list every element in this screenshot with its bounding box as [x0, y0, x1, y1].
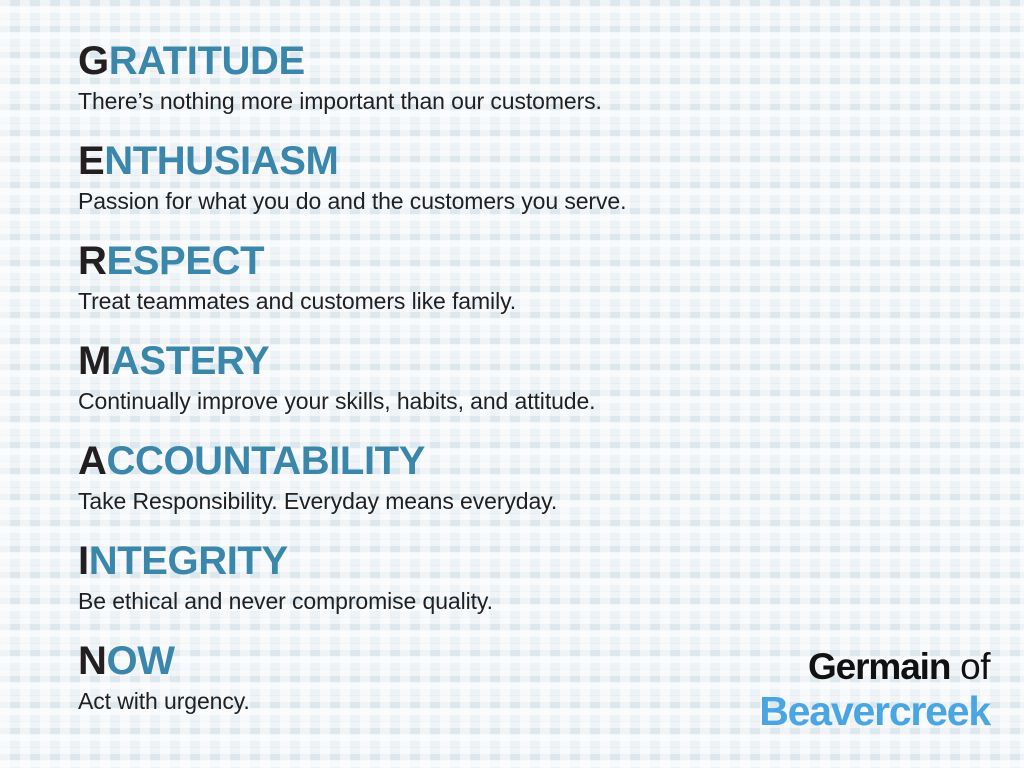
value-heading-gratitude: GRATITUDE [78, 38, 958, 84]
value-heading-integrity: INTEGRITY [78, 538, 958, 584]
value-heading-enthusiasm: ENTHUSIASM [78, 138, 958, 184]
value-description-gratitude: There’s nothing more important than our … [78, 86, 958, 116]
value-heading-rest: ASTERY [111, 339, 269, 383]
value-block-accountability: ACCOUNTABILITY Take Responsibility. Ever… [78, 438, 958, 538]
value-initial-letter: A [78, 439, 107, 483]
values-poster: GRATITUDE There’s nothing more important… [0, 0, 1024, 768]
value-block-integrity: INTEGRITY Be ethical and never compromis… [78, 538, 958, 638]
value-heading-respect: RESPECT [78, 238, 958, 284]
value-description-accountability: Take Responsibility. Everyday means ever… [78, 486, 958, 516]
value-heading-rest: NTHUSIASM [104, 139, 338, 183]
logo-line-primary: Germain of [759, 646, 990, 688]
value-heading-rest: OW [107, 639, 175, 683]
value-initial-letter: E [78, 139, 104, 183]
value-heading-rest: ESPECT [107, 239, 265, 283]
value-block-respect: RESPECT Treat teammates and customers li… [78, 238, 958, 338]
logo-brand-name: Germain [808, 646, 950, 687]
value-block-mastery: MASTERY Continually improve your skills,… [78, 338, 958, 438]
value-heading-rest: CCOUNTABILITY [107, 439, 425, 483]
value-initial-letter: M [78, 339, 111, 383]
value-initial-letter: I [78, 539, 89, 583]
value-initial-letter: G [78, 39, 109, 83]
value-description-mastery: Continually improve your skills, habits,… [78, 386, 958, 416]
value-heading-rest: NTEGRITY [89, 539, 288, 583]
value-description-respect: Treat teammates and customers like famil… [78, 286, 958, 316]
values-list: GRATITUDE There’s nothing more important… [78, 38, 958, 738]
value-heading-accountability: ACCOUNTABILITY [78, 438, 958, 484]
logo-connector-word: of [950, 646, 990, 687]
logo-location-name: Beavercreek [759, 688, 990, 734]
value-description-enthusiasm: Passion for what you do and the customer… [78, 186, 958, 216]
value-initial-letter: R [78, 239, 107, 283]
value-heading-mastery: MASTERY [78, 338, 958, 384]
value-block-gratitude: GRATITUDE There’s nothing more important… [78, 38, 958, 138]
value-initial-letter: N [78, 639, 107, 683]
dealership-logo: Germain of Beavercreek [759, 646, 990, 734]
value-block-enthusiasm: ENTHUSIASM Passion for what you do and t… [78, 138, 958, 238]
value-heading-rest: RATITUDE [109, 39, 305, 83]
value-description-integrity: Be ethical and never compromise quality. [78, 586, 958, 616]
